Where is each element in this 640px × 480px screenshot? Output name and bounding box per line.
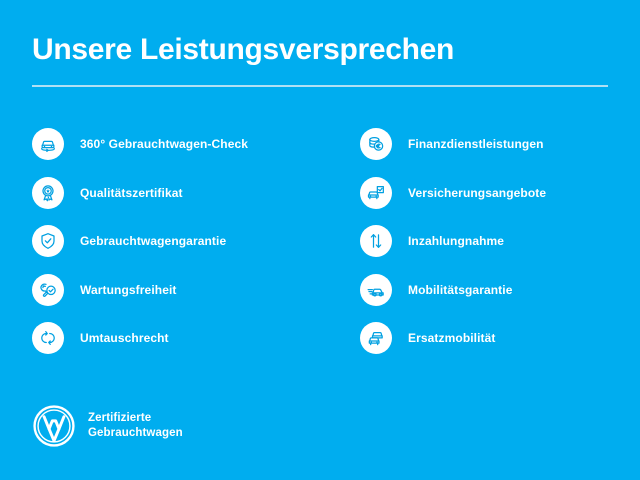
promise-item-finanzdienstleistungen[interactable]: Finanzdienstleistungen: [360, 128, 546, 160]
promise-item-wartungsfreiheit[interactable]: Wartungsfreiheit: [32, 274, 248, 306]
promise-item-ersatzmobilitaet[interactable]: Ersatzmobilität: [360, 322, 546, 354]
coins-euro-icon: [360, 128, 392, 160]
promise-item-umtauschrecht[interactable]: Umtauschrecht: [32, 322, 248, 354]
promise-label: Ersatzmobilität: [408, 331, 496, 345]
brand-text: Zertifizierte Gebrauchtwagen: [88, 411, 183, 441]
promises-column-left: 360° Gebrauchtwagen-Check Qualitätszerti…: [32, 128, 248, 371]
promise-item-gebrauchtwagengarantie[interactable]: Gebrauchtwagengarantie: [32, 225, 248, 257]
promise-label: 360° Gebrauchtwagen-Check: [80, 137, 248, 151]
promise-item-gebrauchtwagen-check[interactable]: 360° Gebrauchtwagen-Check: [32, 128, 248, 160]
promise-item-inzahlungnahme[interactable]: Inzahlungnahme: [360, 225, 546, 257]
promises-slide: Unsere Leistungsversprechen 360° Gebrauc…: [0, 0, 640, 480]
brand-lockup: Zertifizierte Gebrauchtwagen: [32, 404, 183, 448]
arrows-up-down-icon: [360, 225, 392, 257]
promise-label: Gebrauchtwagengarantie: [80, 234, 226, 248]
exchange-arrows-icon: [32, 322, 64, 354]
quality-award-rosette-icon: [32, 177, 64, 209]
brand-text-line2: Gebrauchtwagen: [88, 426, 183, 441]
promise-label: Finanzdienstleistungen: [408, 137, 544, 151]
promise-label: Qualitätszertifikat: [80, 186, 183, 200]
shield-check-icon: [32, 225, 64, 257]
brand-text-line1: Zertifizierte: [88, 411, 183, 426]
promise-item-qualitaetszertifikat[interactable]: Qualitätszertifikat: [32, 177, 248, 209]
car-motion-lines-icon: [360, 274, 392, 306]
car-document-check-icon: [360, 177, 392, 209]
promise-label: Umtauschrecht: [80, 331, 169, 345]
wrench-check-icon: [32, 274, 64, 306]
car-360-check-icon: [32, 128, 64, 160]
two-cars-icon: [360, 322, 392, 354]
promise-label: Mobilitätsgarantie: [408, 283, 512, 297]
promise-item-versicherungsangebote[interactable]: Versicherungsangebote: [360, 177, 546, 209]
promise-item-mobilitaetsgarantie[interactable]: Mobilitätsgarantie: [360, 274, 546, 306]
volkswagen-logo-icon: [32, 404, 76, 448]
promise-label: Inzahlungnahme: [408, 234, 504, 248]
promises-column-right: Finanzdienstleistungen Versicherungsange…: [360, 128, 546, 371]
promise-label: Versicherungsangebote: [408, 186, 546, 200]
page-title: Unsere Leistungsversprechen: [32, 32, 454, 68]
title-divider: [32, 85, 608, 87]
promise-label: Wartungsfreiheit: [80, 283, 177, 297]
